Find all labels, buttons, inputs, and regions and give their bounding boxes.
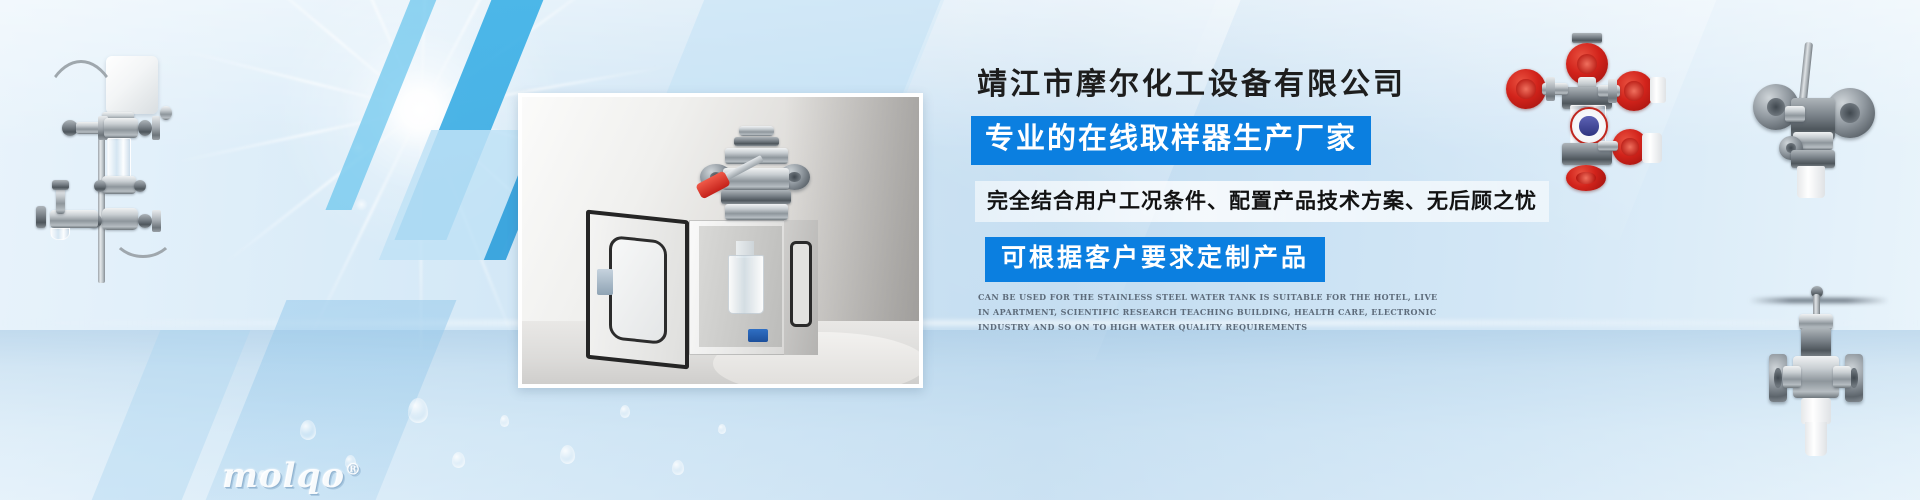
product-photo-sampling-cabinet	[518, 93, 923, 388]
water-droplet-icon	[672, 460, 684, 475]
water-droplet-icon	[500, 415, 509, 427]
product-image-inline-valve	[1755, 280, 1915, 495]
product-image-lever-valve	[1705, 20, 1910, 235]
english-description: CAN BE USED FOR THE STAINLESS STEEL WATE…	[978, 290, 1443, 334]
water-droplet-icon	[718, 424, 726, 434]
water-droplet-icon	[560, 445, 575, 464]
tagline-secondary-badge: 可根据客户要求定制产品	[985, 237, 1325, 282]
water-droplet-icon	[408, 398, 428, 423]
company-name: 靖江市摩尔化工设备有限公司	[977, 70, 1475, 100]
water-droplet-icon	[300, 420, 316, 440]
subline-text: 完全结合用户工况条件、配置产品技术方案、无后顾之忧	[975, 181, 1549, 222]
product-image-cross-manifold	[1490, 25, 1690, 180]
water-droplet-icon	[452, 452, 465, 468]
tagline-primary-badge: 专业的在线取样器生产厂家	[971, 116, 1371, 165]
brand-logo-text: molqo	[222, 456, 345, 496]
brand-logo: molqo®	[222, 456, 362, 496]
lens-flare-dot	[355, 198, 368, 211]
product-image-pole-sampler	[10, 20, 190, 280]
promo-banner: 靖江市摩尔化工设备有限公司 专业的在线取样器生产厂家 完全结合用户工况条件、配置…	[0, 0, 1920, 500]
water-droplet-icon	[620, 405, 630, 418]
registered-trademark-icon: ®	[345, 460, 362, 479]
marketing-text-block: 靖江市摩尔化工设备有限公司 专业的在线取样器生产厂家 完全结合用户工况条件、配置…	[955, 70, 1475, 334]
